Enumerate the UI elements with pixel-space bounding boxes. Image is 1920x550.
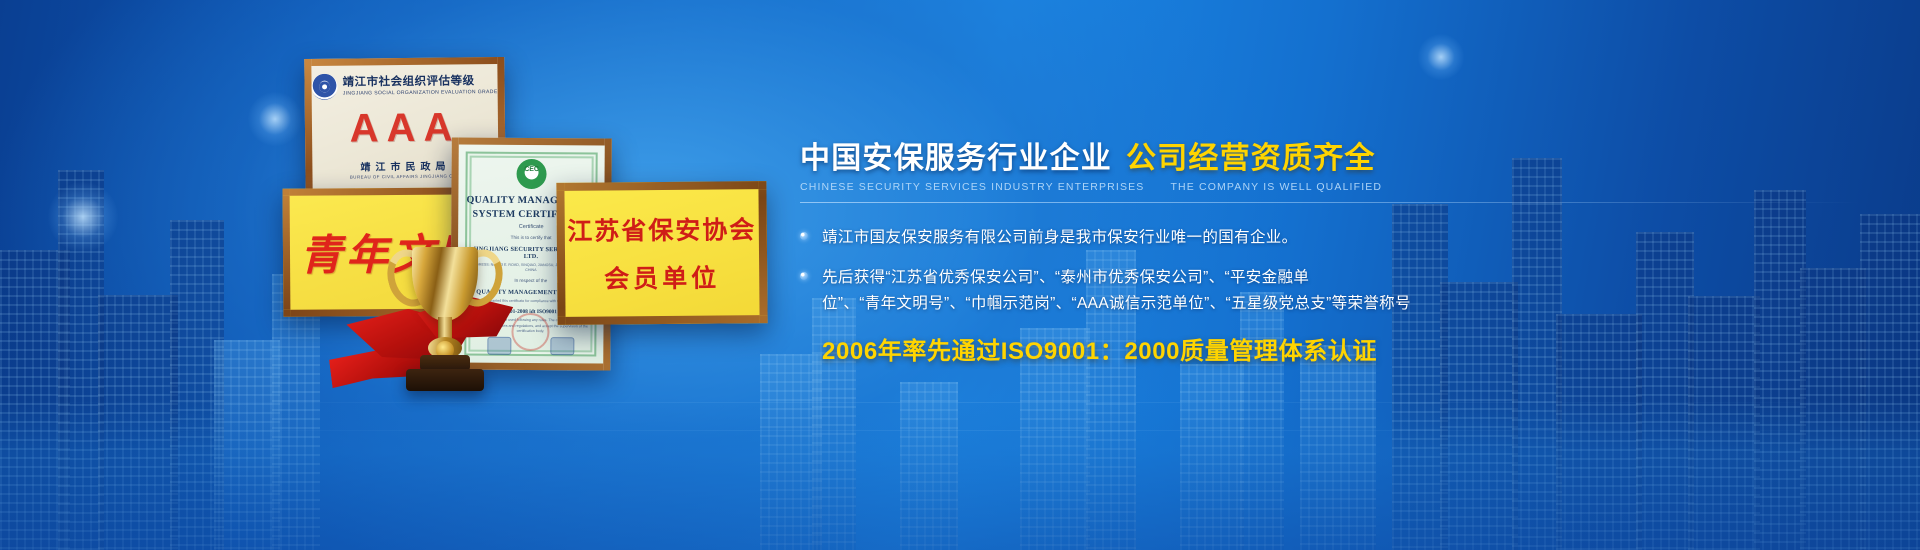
list-item: 靖江市国友保安服务有限公司前身是我市保安行业唯一的国有企业。 (800, 225, 1880, 252)
aaa-plaque-title: 靖江市社会组织评估等级 (343, 75, 498, 90)
association-plaque-line2: 会员单位 (604, 258, 720, 295)
trophy-group (330, 225, 570, 425)
subheading-english-right: THE COMPANY IS WELL QUALIFIED (1170, 181, 1382, 193)
heading-secondary: 公司经营资质齐全 (1126, 142, 1376, 175)
bullet-dot-icon (800, 232, 808, 240)
aaa-plaque-title-en: JINGJIANG SOCIAL ORGANIZATION EVALUATION… (343, 89, 498, 97)
subheading-english-left: CHINESE SECURITY SERVICES INDUSTRY ENTER… (800, 181, 1144, 193)
civil-affairs-seal-icon (311, 74, 337, 100)
gold-trophy-icon (390, 225, 500, 415)
heading-divider (800, 202, 1860, 203)
security-association-plaque: 江苏省保安协会 会员单位 (556, 181, 767, 325)
list-item: 先后获得“江苏省优秀保安公司”、“泰州市优秀保安公司”、“平安金融单 位”、“青… (800, 265, 1880, 318)
iso-highlight-text: 2006年率先通过ISO9001：2000质量管理体系认证 (822, 331, 1880, 366)
heading-primary: 中国安保服务行业企业 (800, 142, 1112, 175)
bullet-text: 靖江市国友保安服务有限公司前身是我市保安行业唯一的国有企业。 (822, 225, 1880, 252)
association-plaque-line1: 江苏省保安协会 (567, 210, 756, 248)
banner-copy-column: 中国安保服务行业企业 公司经营资质齐全 CHINESE SECURITY SER… (800, 142, 1880, 366)
banner-subheading-english: CHINESE SECURITY SERVICES INDUSTRY ENTER… (800, 181, 1880, 193)
bullet-list: 靖江市国友保安服务有限公司前身是我市保安行业唯一的国有企业。 先后获得“江苏省优… (800, 225, 1880, 318)
bullet-text-continued: 位”、“青年文明号”、“巾帼示范岗”、“AAA诚信示范单位”、“五星级党总支”等… (822, 291, 1880, 318)
cec-logo-icon (516, 159, 546, 189)
bullet-dot-icon (800, 272, 808, 280)
bullet-text: 先后获得“江苏省优秀保安公司”、“泰州市优秀保安公司”、“平安金融单 (822, 265, 1880, 292)
banner-heading: 中国安保服务行业企业 公司经营资质齐全 (800, 142, 1880, 175)
qualification-banner: 靖江市社会组织评估等级 JINGJIANG SOCIAL ORGANIZATIO… (0, 0, 1920, 550)
